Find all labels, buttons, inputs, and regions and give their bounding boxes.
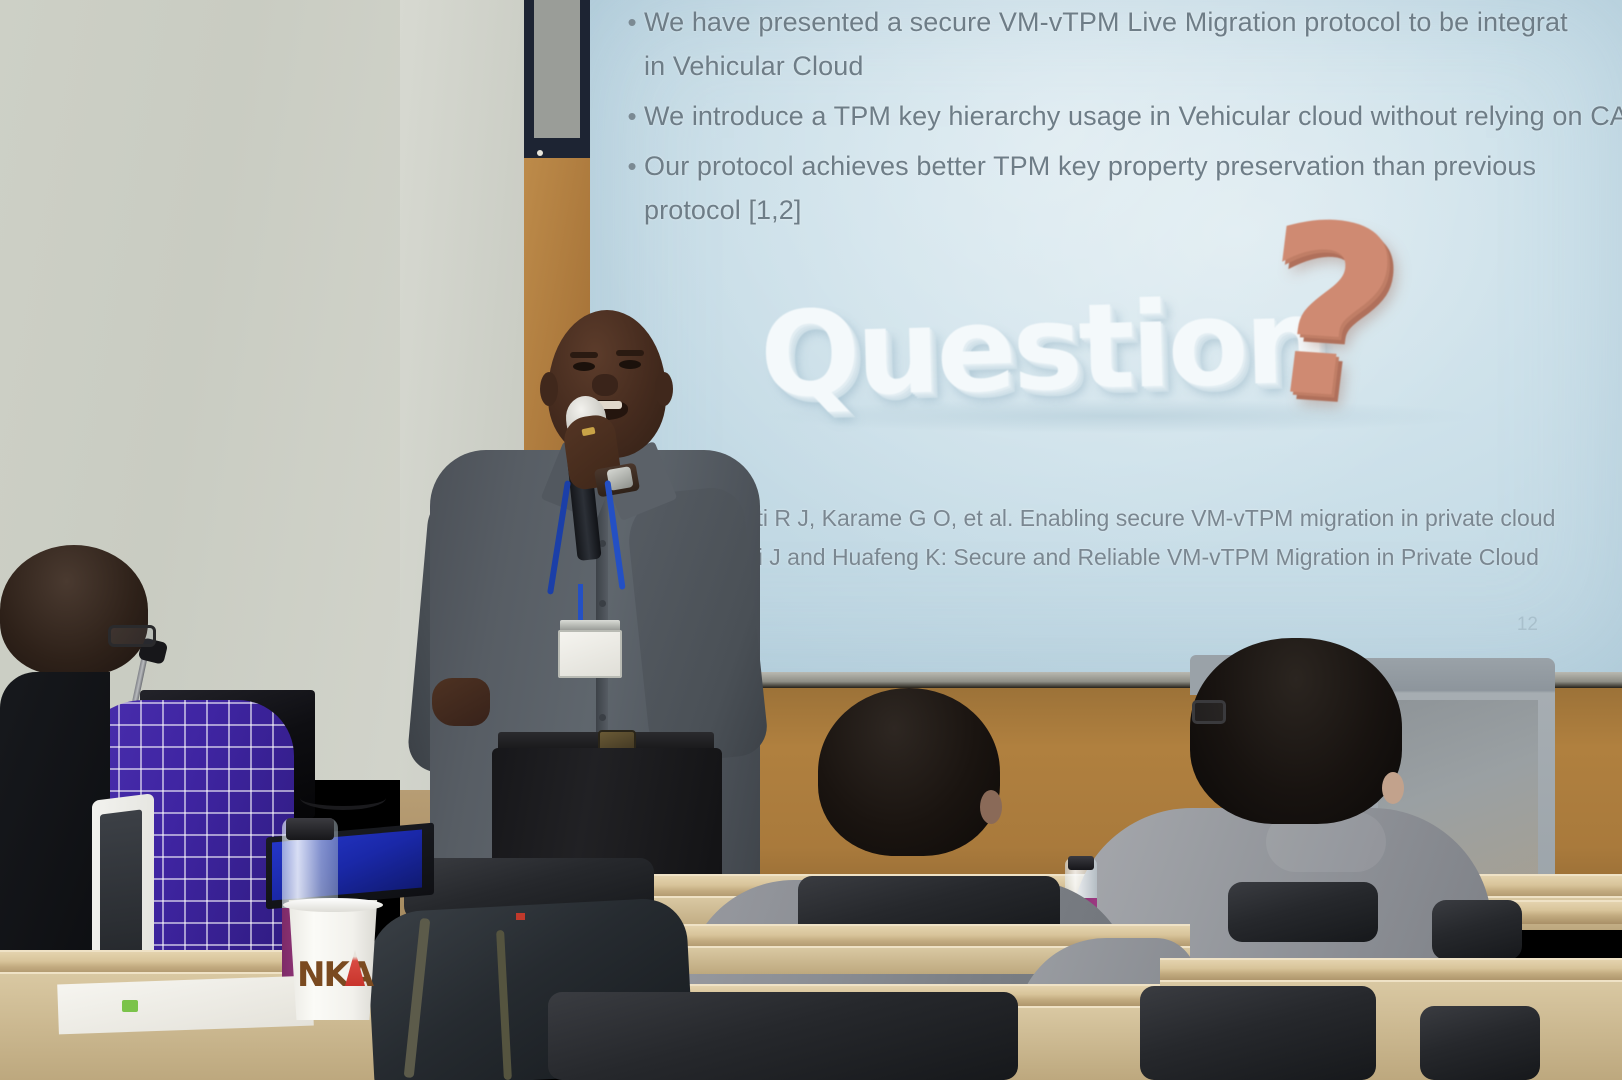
paper-coffee-cup-rim bbox=[283, 898, 383, 912]
slide-number: 12 bbox=[1517, 614, 1538, 636]
chair-back-right[interactable] bbox=[1228, 882, 1378, 942]
chair-front-far-right[interactable] bbox=[1420, 1006, 1540, 1080]
presentation-photo-scene: • We have presented a secure VM-vTPM Liv… bbox=[0, 0, 1622, 1080]
attendee-front-left-glasses bbox=[108, 625, 156, 647]
bullet-dot-icon: • bbox=[620, 0, 644, 44]
desk-front-right bbox=[1160, 958, 1622, 982]
name-badge bbox=[558, 630, 622, 678]
slide-bullet-item: • We introduce a TPM key hierarchy usage… bbox=[620, 94, 1622, 138]
bullet-3-line-1: Our protocol achieves better TPM key pro… bbox=[644, 151, 1536, 181]
bullet-dot-icon: • bbox=[620, 94, 644, 138]
attendee-center-head bbox=[818, 688, 1000, 856]
presenter-eye-left bbox=[573, 362, 595, 371]
bullet-2-line-1: We introduce a TPM key hierarchy usage i… bbox=[644, 94, 1622, 138]
water-bottle-left-cap bbox=[286, 818, 334, 840]
presenter-eyebrow-left bbox=[570, 352, 598, 358]
reference-line-2: ui J and Huafeng K: Secure and Reliable … bbox=[745, 538, 1622, 577]
bullet-dot-icon: • bbox=[620, 144, 644, 188]
bullet-1-line-2: in Vehicular Cloud bbox=[644, 51, 863, 81]
red-indicator-light bbox=[516, 913, 525, 920]
slide-bullet-item: • We have presented a secure VM-vTPM Liv… bbox=[620, 0, 1622, 88]
presenter bbox=[400, 300, 800, 920]
question-word-text: Question bbox=[758, 272, 1326, 425]
cable bbox=[300, 786, 386, 810]
laptop-white-screen bbox=[100, 809, 142, 972]
attendee-center-ear bbox=[980, 790, 1002, 824]
question-mark-icon: ? bbox=[1246, 192, 1411, 435]
chair-back-far-right[interactable] bbox=[1432, 900, 1522, 960]
chair-front-center[interactable] bbox=[548, 992, 1018, 1080]
presenter-ear-left bbox=[540, 372, 558, 406]
presenter-nose bbox=[592, 374, 618, 396]
presenter-eyebrow-right bbox=[616, 350, 644, 356]
bullet-1-line-1: We have presented a secure VM-vTPM Live … bbox=[644, 7, 1568, 37]
attendee-front-left-head bbox=[0, 545, 148, 675]
presenter-left-hand bbox=[432, 678, 490, 726]
chair-front-right[interactable] bbox=[1140, 986, 1376, 1080]
presenter-eye-right bbox=[619, 360, 641, 369]
papers-on-desk bbox=[57, 976, 314, 1035]
presenter-ear-right bbox=[655, 372, 673, 406]
slide-bullet-list: • We have presented a secure VM-vTPM Liv… bbox=[620, 0, 1622, 238]
attendee-right-ear bbox=[1382, 772, 1404, 804]
door-knob bbox=[537, 150, 543, 156]
paper-green-tab bbox=[122, 1000, 138, 1012]
door-window-pane bbox=[534, 0, 580, 138]
attendee-right-glasses bbox=[1192, 700, 1226, 724]
attendee-right-head bbox=[1190, 638, 1402, 824]
slide-references: sti R J, Karame G O, et al. Enabling sec… bbox=[745, 499, 1622, 577]
water-bottle-right-cap bbox=[1068, 856, 1094, 870]
reference-line-1: sti R J, Karame G O, et al. Enabling sec… bbox=[745, 499, 1622, 538]
shirt-button bbox=[599, 714, 606, 721]
question-graphic: Question ? bbox=[740, 204, 1540, 434]
shirt-button bbox=[599, 600, 606, 607]
